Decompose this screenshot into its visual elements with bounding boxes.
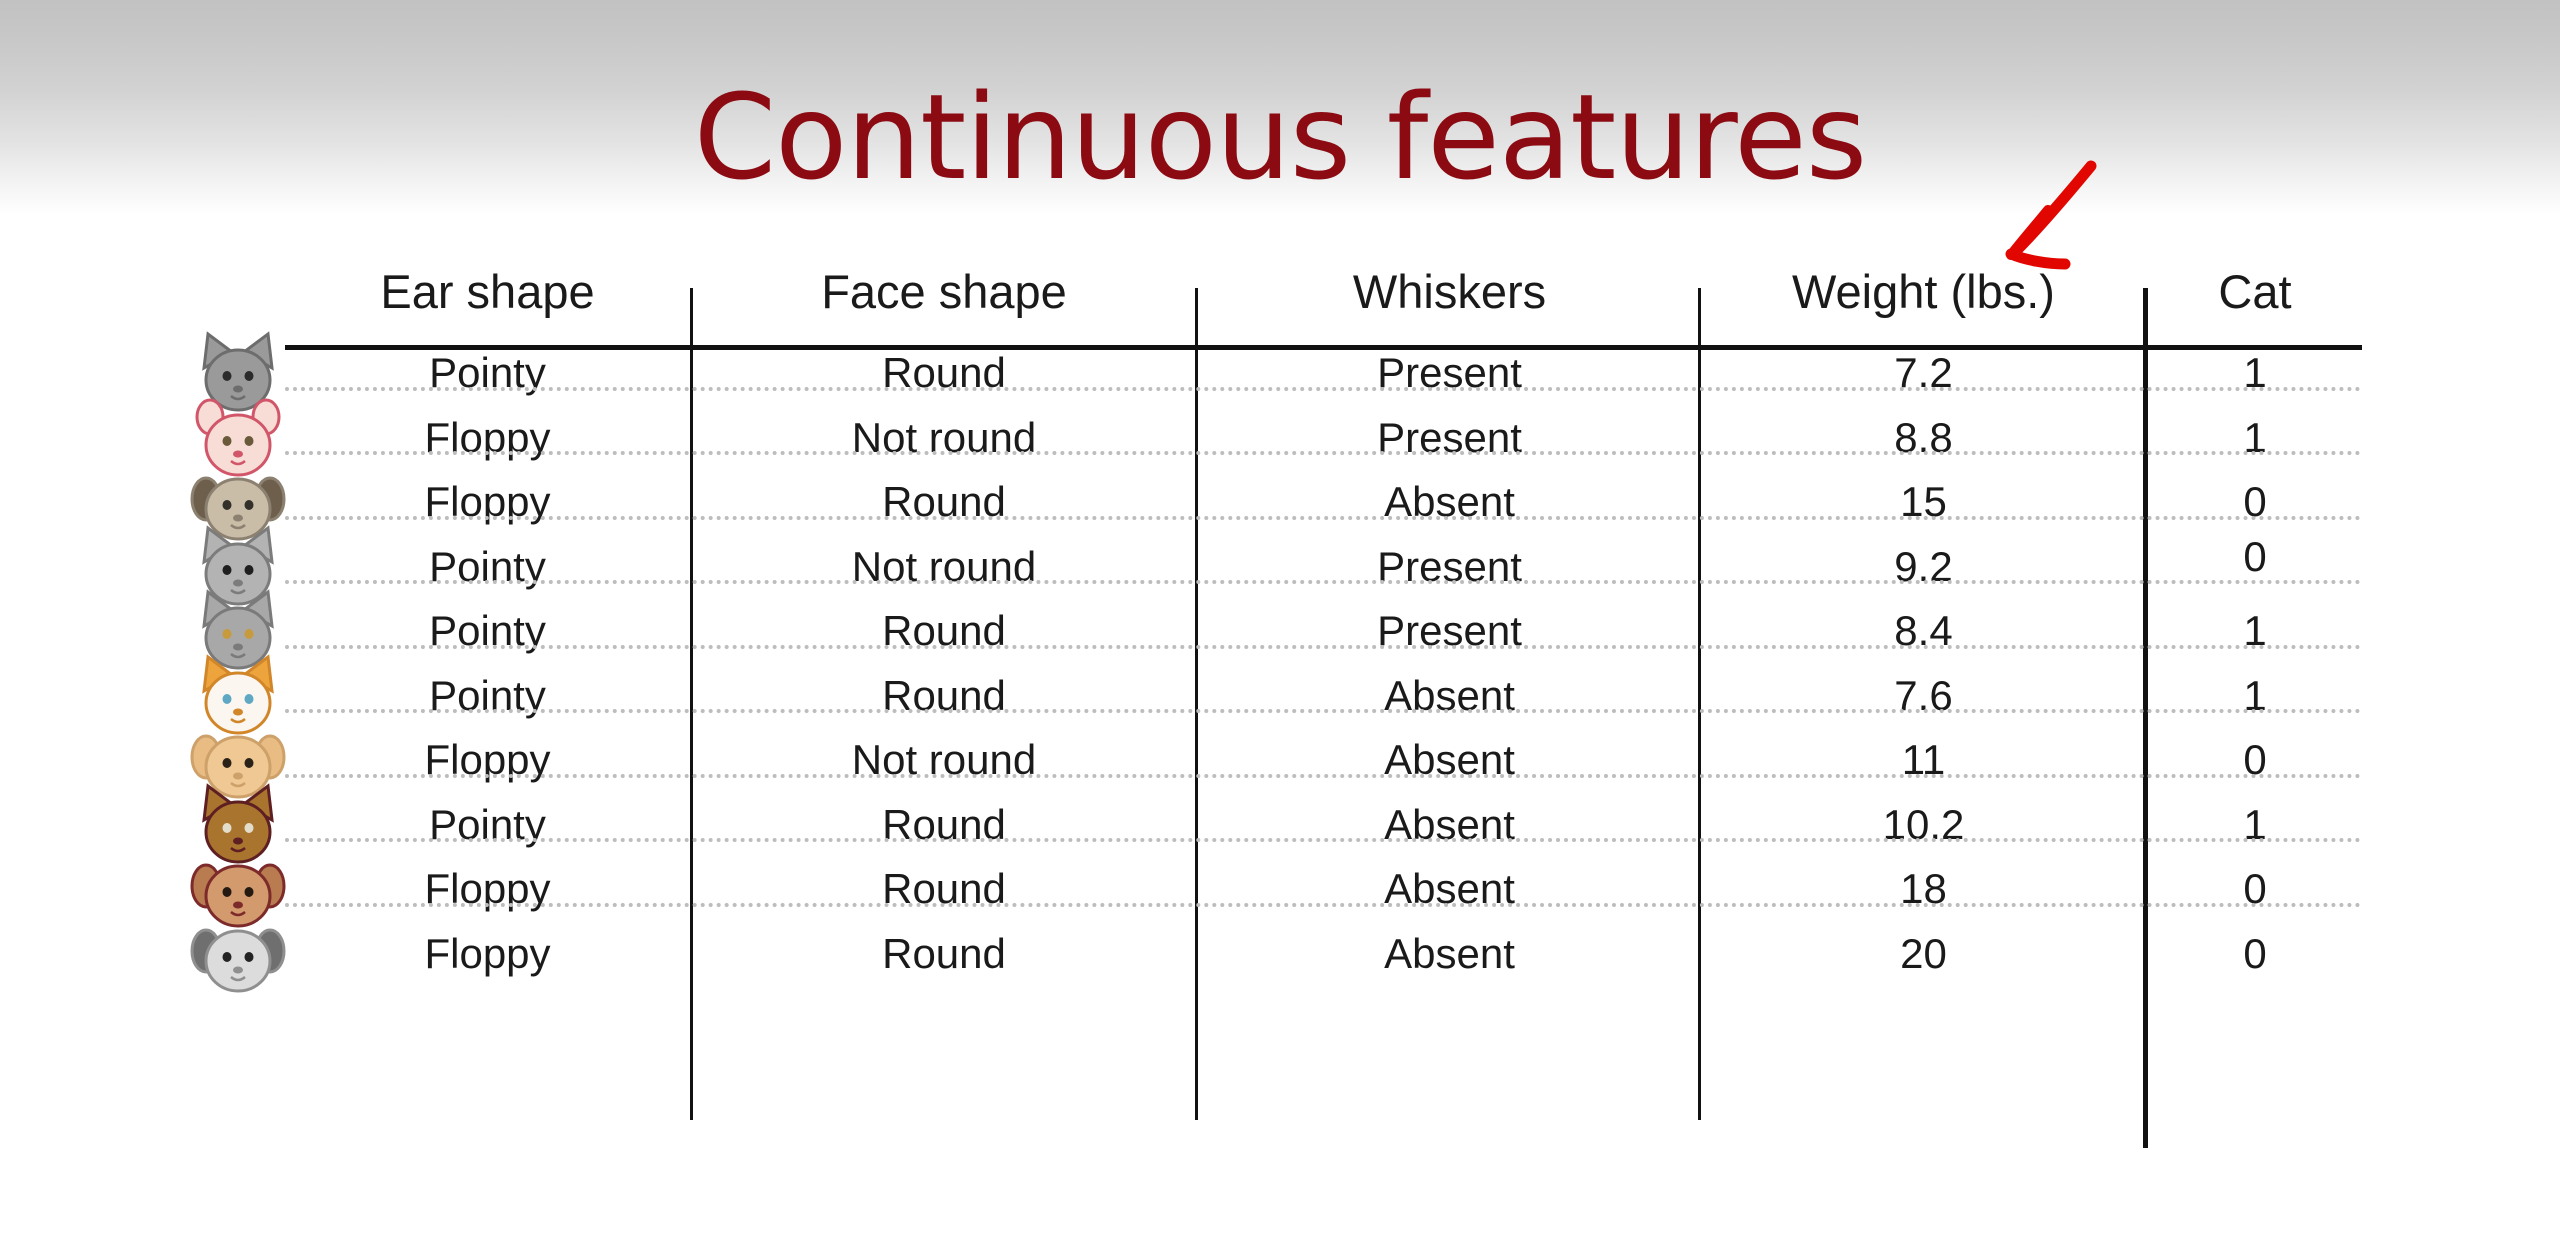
column-divider-3 [1698, 288, 1701, 1120]
cell-weight: 20 [1704, 933, 2143, 975]
table-header-rule [285, 345, 2362, 350]
row-separator [285, 645, 2362, 649]
cell-cat: 0 [2148, 536, 2362, 578]
row-separator [285, 709, 2362, 713]
row-separator [285, 903, 2362, 907]
row-separator [285, 774, 2362, 778]
row-separator [285, 516, 2362, 520]
column-header-ear-shape: Ear shape [285, 268, 690, 315]
column-header-face-shape: Face shape [693, 268, 1195, 315]
grey-dog-floppy-icon [190, 907, 286, 1003]
cell-whiskers: Absent [1201, 933, 1698, 975]
column-header-cat: Cat [2148, 268, 2362, 315]
row-separator [285, 451, 2362, 455]
column-header-whiskers: Whiskers [1201, 268, 1698, 315]
column-divider-2 [1195, 288, 1198, 1120]
cell-ear-shape: Floppy [285, 933, 690, 975]
row-separator [285, 387, 2362, 391]
row-separator [285, 580, 2362, 584]
slide: Continuous features Ear shape Face shape… [0, 0, 2560, 1255]
cell-cat: 0 [2148, 933, 2362, 975]
row-separator [285, 838, 2362, 842]
features-table: Ear shape Face shape Whiskers Weight (lb… [0, 0, 2560, 1255]
cell-face-shape: Round [693, 933, 1195, 975]
column-header-weight: Weight (lbs.) [1704, 268, 2143, 315]
